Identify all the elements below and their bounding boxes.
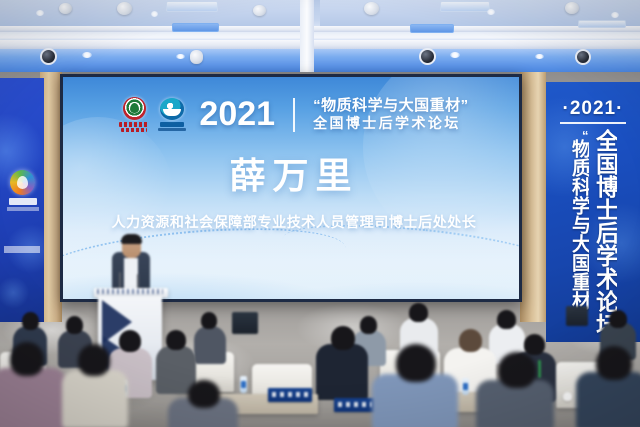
banner-logotype-sub [7, 207, 39, 211]
audience-member-head [396, 344, 436, 382]
audience-member-head [78, 344, 110, 376]
institute-caption-sub [158, 128, 186, 131]
audience-member-head [459, 329, 482, 352]
floor-monitor [566, 306, 588, 326]
light-slot [172, 23, 219, 32]
downlight [36, 10, 44, 16]
cas-colored-circle-logo [10, 170, 35, 195]
university-seal-caption [119, 122, 149, 127]
audience-member-head [166, 330, 186, 350]
downlight [611, 12, 619, 18]
institute-emblem-icon [160, 98, 184, 120]
right-standing-banner: ·2021· “ 全国博士后学术论坛 物质科学与大国重材 [546, 82, 640, 342]
floor-monitor [232, 312, 258, 334]
audience-member-head [498, 352, 536, 388]
downlight [535, 54, 544, 59]
audience-member-head [524, 334, 545, 355]
headline-line-1: “物质科学与大国重材” [313, 97, 469, 114]
audience-member-head [331, 326, 355, 350]
right-banner-rule [560, 122, 626, 124]
light-slot [410, 24, 454, 33]
light-slot [440, 1, 490, 12]
tea-cup [563, 392, 572, 401]
light-slot [578, 20, 626, 28]
presenter-hair [121, 234, 142, 244]
camera-dome [575, 49, 591, 65]
left-standing-banner [0, 78, 44, 322]
downlight [450, 52, 460, 58]
right-banner-text-columns: 全国博士后学术论坛 物质科学与大国重材 [546, 129, 640, 342]
podium-panel-text [97, 289, 163, 294]
ceiling-divider [300, 0, 314, 72]
ceiling-light-cove [0, 49, 640, 72]
header-divider [293, 98, 295, 132]
ceiling-beam [0, 40, 640, 49]
ceiling-beam [0, 26, 640, 32]
audience-member-torso [576, 372, 640, 427]
name-card [268, 388, 312, 402]
audience-member-head [22, 312, 39, 330]
screen-header: 2021 “物质科学与大国重材” 全国博士后学术论坛 [63, 97, 519, 132]
university-seal-caption-sub [121, 128, 147, 132]
audience-member-torso [316, 344, 368, 400]
ceiling-speaker [117, 2, 132, 15]
audience-member-head [188, 380, 220, 408]
downlight [82, 52, 92, 58]
audience-member-head [66, 316, 83, 334]
camera-dome [419, 48, 436, 65]
lanyard [538, 360, 541, 378]
banner-caption-block [4, 246, 40, 253]
downlight [151, 11, 158, 17]
ceiling-speaker [565, 2, 579, 14]
ceiling-speaker [253, 5, 266, 16]
camera-dome [40, 48, 57, 65]
right-banner-year: ·2021· [546, 98, 640, 120]
headline-line-2: 全国博士后学术论坛 [313, 115, 469, 132]
conference-hall-photo: ·2021· “ 全国博士后学术论坛 物质科学与大国重材 [0, 0, 640, 427]
name-card [334, 398, 376, 412]
downlight [176, 54, 185, 59]
ceiling-speaker [59, 3, 72, 14]
water-bottle [462, 378, 469, 395]
water-bottle [240, 376, 247, 393]
audience-member-head [360, 316, 377, 334]
audience-member-head [10, 342, 44, 376]
speaker-role: 人力资源和社会保障部专业技术人员管理司博士后处处长 [63, 212, 519, 232]
audience-member-torso [0, 368, 66, 427]
institute-logo [158, 98, 186, 131]
institute-caption [160, 122, 184, 127]
banner-logotype [9, 198, 37, 205]
audience-member-head [201, 312, 217, 329]
audience-member-torso [194, 326, 226, 364]
university-seal-logo [119, 97, 149, 132]
wall-trim-right [520, 72, 546, 322]
ceiling [0, 0, 640, 72]
audience-member-head [409, 303, 428, 322]
downlight [487, 9, 495, 15]
speaker-name: 薛万里 [63, 147, 519, 199]
screen-year: 2021 [199, 98, 275, 131]
ceiling-speaker [364, 2, 379, 15]
audience-member-head [609, 310, 627, 328]
ceiling-speaker [190, 50, 203, 64]
light-slot [166, 1, 218, 12]
audience-member-head [596, 346, 632, 380]
screen-headline: “物质科学与大国重材” 全国博士后学术论坛 [313, 97, 469, 131]
audience-member-torso [62, 370, 128, 427]
audience-member-head [497, 310, 516, 329]
audience-member-head [119, 330, 141, 352]
university-seal-icon [123, 97, 146, 120]
